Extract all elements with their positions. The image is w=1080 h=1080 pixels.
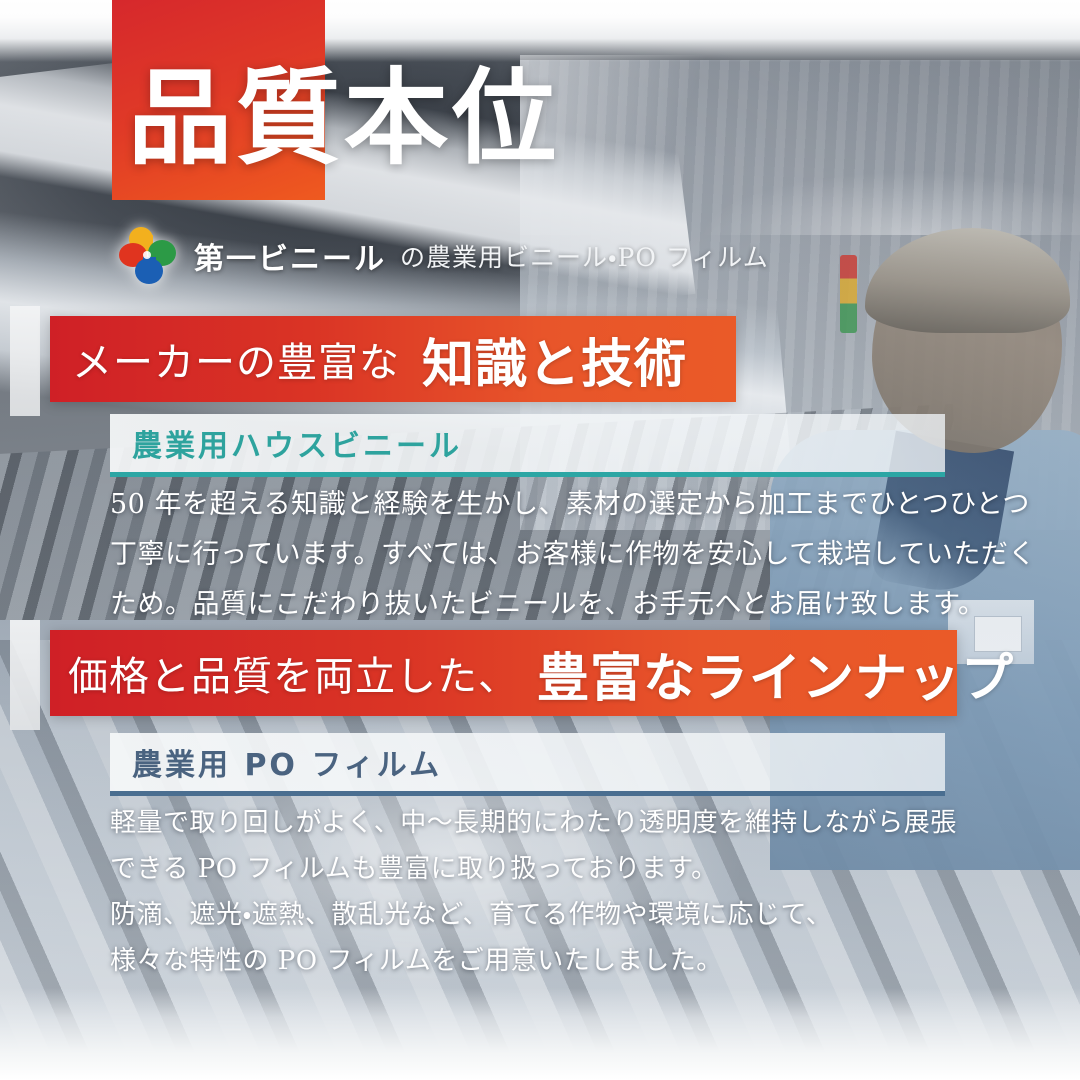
paragraph-line: できる PO フィルムも豊富に取り扱っております。 <box>110 846 970 892</box>
paragraph-line: 防滴、遮光・遮熱、散乱光など、育てる作物や環境に応じて、 <box>110 892 970 938</box>
paragraph-line: 50 年を超える知識と経験を生かし、素材の選定から加工までひとつひとつ <box>110 480 970 530</box>
section-banner-1: メーカーの豊富な 知識と技術 <box>50 316 736 402</box>
brand-row: 第一ビニール の農業用ビニール・PO フィルム <box>118 225 769 287</box>
hero-title-highlight: 品質 <box>128 56 344 179</box>
banner-accent-tick-2 <box>10 620 40 730</box>
body-paragraph-vinyl: 50 年を超える知識と経験を生かし、素材の選定から加工までひとつひとつ 丁寧に行… <box>110 480 970 630</box>
hero-title-rest: 本位 <box>344 56 560 179</box>
paragraph-line: ため。品質にこだわり抜いたビニールを、お手元へとお届け致します。 <box>110 580 970 630</box>
subheading-vinyl-label: 農業用ハウスビニール <box>110 421 462 465</box>
banner-2-big-text: 豊富なラインナップ <box>519 636 1014 711</box>
banner-2-small-text: 価格と品質を両立した、 <box>50 644 519 702</box>
banner-accent-tick-1 <box>10 306 40 416</box>
page-title: 品質本位 <box>128 66 560 170</box>
paragraph-line: 様々な特性の PO フィルムをご用意いたしました。 <box>110 938 970 984</box>
hero-section: 品質本位 <box>0 0 1080 210</box>
banner-1-big-text: 知識と技術 <box>400 322 687 397</box>
paragraph-line: 軽量で取り回しがよく、中〜長期的にわたり透明度を維持しながら展張 <box>110 800 970 846</box>
subheading-plate-vinyl: 農業用ハウスビニール <box>110 414 945 477</box>
pinwheel-flower-logo-icon <box>118 227 180 285</box>
banner-1-small-text: メーカーの豊富な <box>50 330 400 388</box>
subheading-plate-po-film: 農業用 PO フィルム <box>110 733 945 796</box>
body-paragraph-po-film: 軽量で取り回しがよく、中〜長期的にわたり透明度を維持しながら展張 できる PO … <box>110 800 970 984</box>
subheading-po-film-label: 農業用 PO フィルム <box>110 740 442 784</box>
promo-banner-page: 品質本位 第一ビニール の農業用ビニール・PO フィルム メーカーの豊富 <box>0 0 1080 1080</box>
content-layer: 品質本位 第一ビニール の農業用ビニール・PO フィルム メーカーの豊富 <box>0 0 1080 1080</box>
brand-tagline: の農業用ビニール・PO フィルム <box>400 238 769 274</box>
paragraph-line: 丁寧に行っています。すべては、お客様に作物を安心して栽培していただく <box>110 530 970 580</box>
brand-name: 第一ビニール <box>194 234 386 278</box>
section-banner-2: 価格と品質を両立した、 豊富なラインナップ <box>50 630 957 716</box>
